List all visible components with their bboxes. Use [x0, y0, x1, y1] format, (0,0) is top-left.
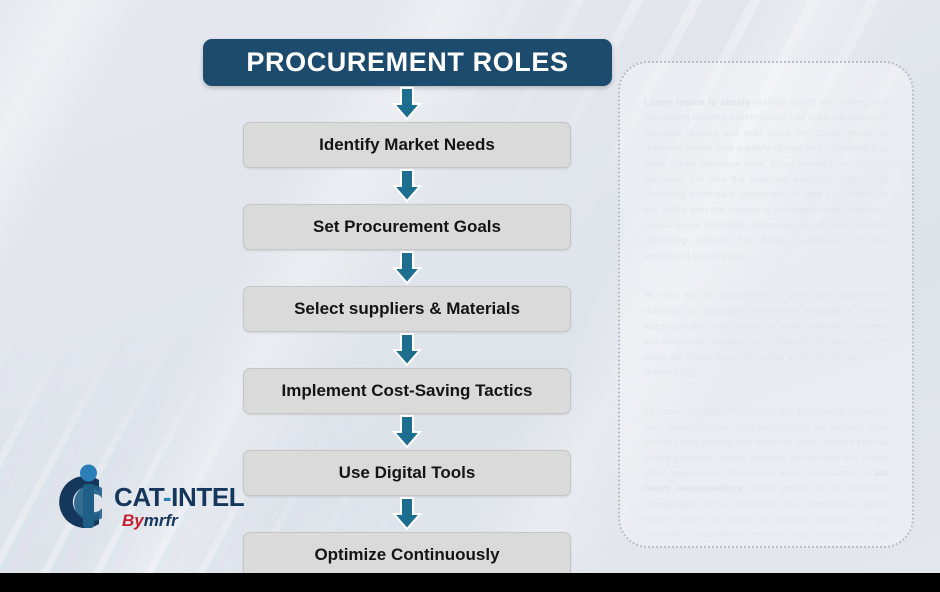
down-arrow-icon — [243, 414, 571, 450]
logo-word-intel: INTEL — [171, 482, 244, 512]
logo-word-cat: CAT — [114, 482, 163, 512]
paragraph-lead: Lorem Ipsum is simply — [644, 97, 750, 108]
flow-step-6[interactable]: Optimize Continuously — [243, 532, 571, 573]
flow-step-label: Use Digital Tools — [339, 463, 476, 483]
down-arrow-icon — [243, 332, 571, 368]
paragraph-part-1: Et harum quidem rerum facilis est et exp… — [644, 406, 888, 479]
flow-step-3[interactable]: Select suppliers & Materials — [243, 286, 571, 332]
brand-logo: CAT-INTEL Bymrfr — [52, 462, 222, 540]
logo-by-word: By — [122, 511, 144, 530]
placeholder-paragraph-2: At vero eos et accusamus et iusto odio d… — [644, 288, 888, 380]
placeholder-paragraph-3: Et harum quidem rerum facilis est et exp… — [644, 404, 888, 548]
logo-wordmark: CAT-INTEL — [114, 482, 244, 513]
placeholder-text-panel: Lorem Ipsum is simply dummy text of the … — [618, 61, 914, 548]
flow-step-1[interactable]: Identify Market Needs — [243, 122, 571, 168]
logo-brand-name: mrfr — [144, 511, 178, 530]
paragraph-rest: dummy text of the printing and typesetti… — [644, 97, 888, 262]
flow-step-5[interactable]: Use Digital Tools — [243, 450, 571, 496]
page-title: PROCUREMENT ROLES — [246, 47, 568, 78]
flow-step-label: Implement Cost-Saving Tactics — [282, 381, 533, 401]
logo-byline: Bymrfr — [122, 511, 178, 531]
flow-step-label: Set Procurement Goals — [313, 217, 501, 237]
down-arrow-icon — [243, 496, 571, 532]
down-arrow-icon — [243, 168, 571, 204]
flow-step-label: Identify Market Needs — [319, 135, 495, 155]
slide-title-banner: PROCUREMENT ROLES — [203, 39, 612, 86]
flow-step-2[interactable]: Set Procurement Goals — [243, 204, 571, 250]
flow-step-4[interactable]: Implement Cost-Saving Tactics — [243, 368, 571, 414]
procurement-flowchart: Identify Market Needs Set Procurement Go… — [243, 86, 571, 573]
logo-word-dash: - — [163, 482, 171, 512]
down-arrow-icon — [243, 86, 571, 122]
flow-step-label: Select suppliers & Materials — [294, 299, 520, 319]
slide-canvas: PROCUREMENT ROLES Identify Market Needs … — [0, 0, 940, 573]
down-arrow-icon — [243, 250, 571, 286]
bottom-letterbox-bar — [0, 573, 940, 592]
placeholder-paragraph-1: Lorem Ipsum is simply dummy text of the … — [644, 95, 888, 264]
flow-step-label: Optimize Continuously — [314, 545, 499, 565]
